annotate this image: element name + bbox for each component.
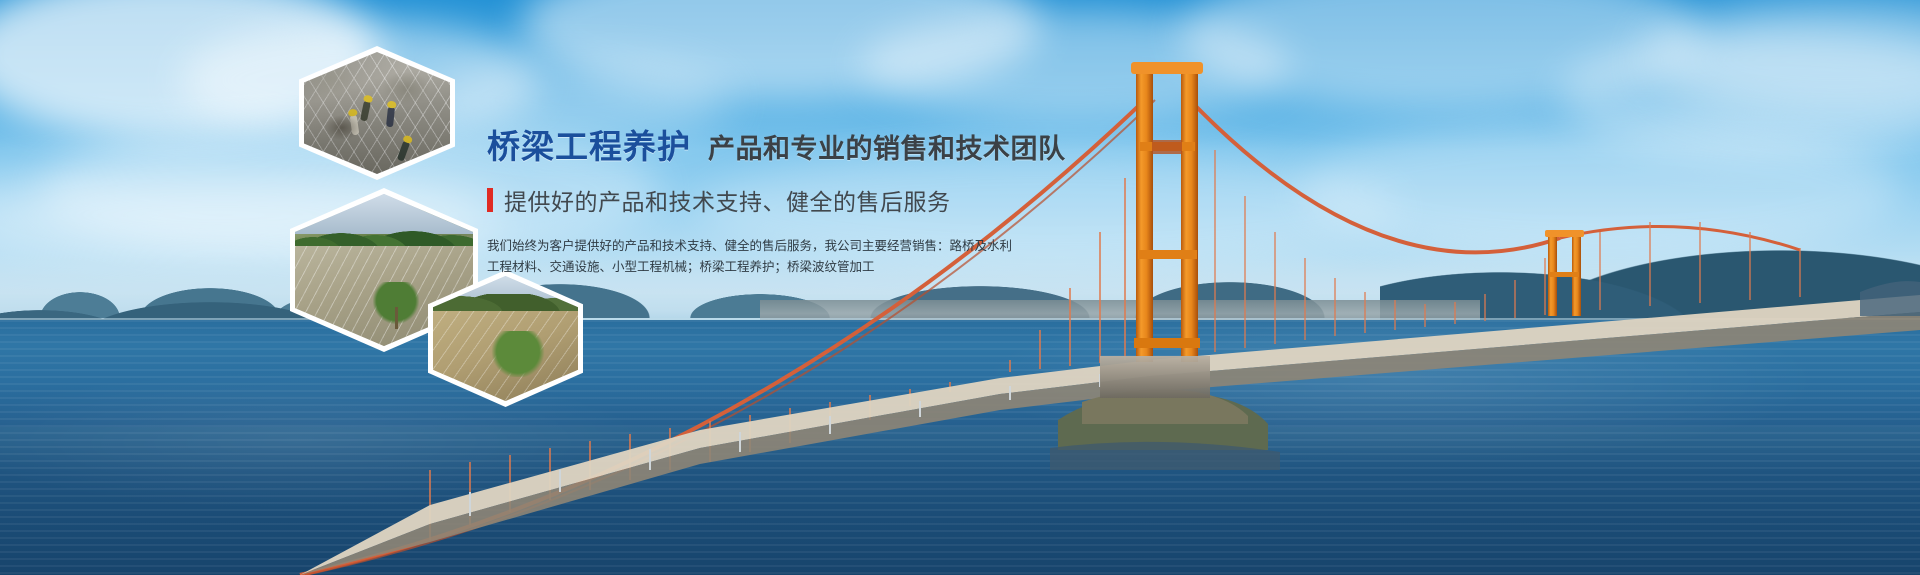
- headline-secondary: 产品和专业的销售和技术团队: [708, 127, 1066, 166]
- worker-figure: [386, 107, 395, 128]
- worker-figure: [360, 100, 371, 121]
- banner-subheading: 提供好的产品和技术支持、健全的售后服务: [487, 183, 1007, 217]
- banner-body-copy: 我们始终为客户提供好的产品和技术支持、健全的售后服务，我公司主要经营销售：路桥及…: [487, 236, 907, 278]
- dirt-slope-mesh-image: [433, 276, 578, 401]
- body-line: 工程材料、交通设施、小型工程机械；桥梁工程养护；桥梁波纹管加工: [487, 257, 907, 278]
- accent-bar-icon: [487, 188, 493, 212]
- hex-photo-3[interactable]: [428, 270, 583, 407]
- body-line: 我们始终为客户提供好的产品和技术支持、健全的售后服务，我公司主要经营销售：路桥及…: [487, 236, 907, 257]
- hex-photo-1[interactable]: [299, 46, 455, 180]
- hero-banner: 桥梁工程养护 产品和专业的销售和技术团队 提供好的产品和技术支持、健全的售后服务…: [0, 0, 1920, 575]
- worker-figure: [349, 115, 359, 136]
- subheading-text: 提供好的产品和技术支持、健全的售后服务: [504, 183, 951, 217]
- worker-figure: [397, 140, 410, 161]
- banner-copy: 桥梁工程养护 产品和专业的销售和技术团队 提供好的产品和技术支持、健全的售后服务…: [487, 120, 1007, 278]
- sea-water: [0, 320, 1920, 575]
- rock-slope-mesh-installation-image: [304, 52, 450, 174]
- headline-primary: 桥梁工程养护: [487, 120, 691, 168]
- banner-headline: 桥梁工程养护 产品和专业的销售和技术团队: [487, 120, 1007, 168]
